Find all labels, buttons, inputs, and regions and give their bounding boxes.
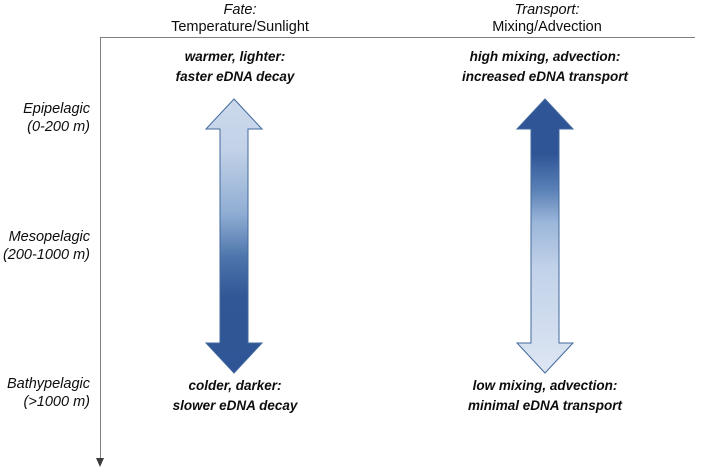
depth-axis-arrowhead-icon [96,458,104,467]
depth-zone-name-mesopelagic: Mesopelagic [0,228,90,246]
diagram-top-rule [100,37,695,38]
caption-transport-bottom-line2: minimal eDNA transport [430,396,660,416]
transport-double-arrow-icon [509,98,581,374]
caption-fate-bottom-line1: colder, darker: [120,376,350,396]
caption-fate-top-line1: warmer, lighter: [120,47,350,67]
column-header-transport: Transport: Mixing/Advection [447,2,647,36]
fate-double-arrow-icon [198,98,270,374]
depth-zone-name-epipelagic: Epipelagic [0,100,90,118]
caption-fate-bottom: colder, darker: slower eDNA decay [120,376,350,415]
column-header-fate-subtitle: Temperature/Sunlight [140,19,340,36]
caption-fate-top-line2: faster eDNA decay [120,67,350,87]
caption-transport-bottom: low mixing, advection: minimal eDNA tran… [430,376,660,415]
caption-transport-top-line1: high mixing, advection: [430,47,660,67]
column-header-transport-subtitle: Mixing/Advection [447,19,647,36]
caption-transport-top-line2: increased eDNA transport [430,67,660,87]
edna-depth-diagram: Fate: Temperature/Sunlight Transport: Mi… [0,0,708,473]
caption-transport-top: high mixing, advection: increased eDNA t… [430,47,660,86]
depth-zone-range-mesopelagic: (200-1000 m) [0,246,90,264]
column-header-fate: Fate: Temperature/Sunlight [140,2,340,36]
column-header-fate-kicker: Fate: [140,2,340,19]
depth-zone-range-epipelagic: (0-200 m) [0,118,90,136]
depth-zone-label-epipelagic: Epipelagic (0-200 m) [0,100,90,136]
caption-transport-bottom-line1: low mixing, advection: [430,376,660,396]
depth-zone-label-bathypelagic: Bathypelagic (>1000 m) [0,375,90,411]
caption-fate-bottom-line2: slower eDNA decay [120,396,350,416]
caption-fate-top: warmer, lighter: faster eDNA decay [120,47,350,86]
depth-axis-line [100,37,101,460]
depth-zone-name-bathypelagic: Bathypelagic [0,375,90,393]
depth-zone-range-bathypelagic: (>1000 m) [0,393,90,411]
column-header-transport-kicker: Transport: [447,2,647,19]
depth-zone-label-mesopelagic: Mesopelagic (200-1000 m) [0,228,90,264]
